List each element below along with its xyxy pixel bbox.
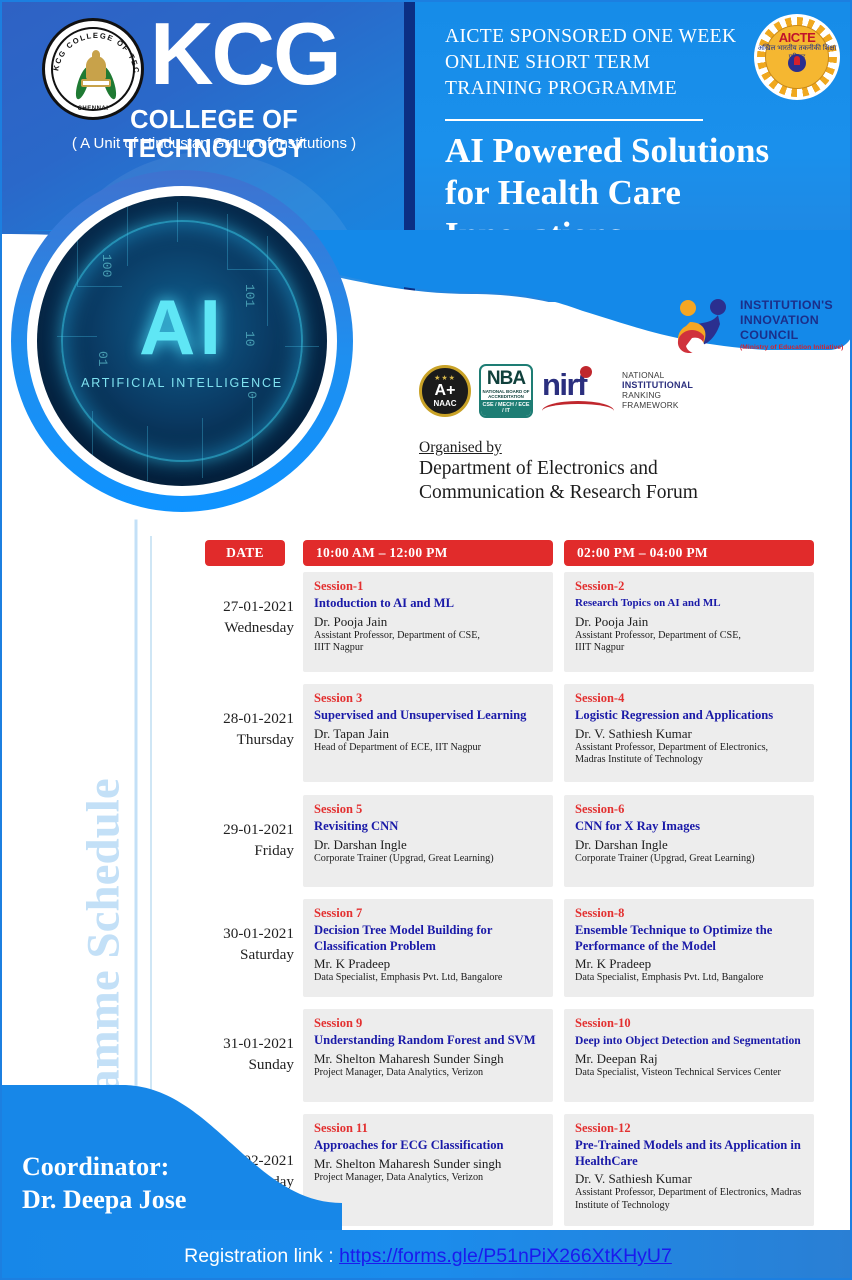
- session-title: Logistic Regression and Applications: [575, 708, 803, 724]
- session-affiliation-line-2: IIIT Nagpur: [314, 642, 542, 655]
- registration-line: Registration link : https://forms.gle/P5…: [2, 1245, 852, 1268]
- session-speaker: Mr. Deepan Raj: [575, 1051, 803, 1067]
- sponsor-line-2: ONLINE SHORT TERM: [445, 50, 745, 76]
- session-number: Session 5: [314, 802, 542, 817]
- nirf-line-3: RANKING: [622, 390, 693, 400]
- sponsor-line-1: AICTE SPONSORED ONE WEEK: [445, 24, 745, 50]
- iic-logo-block: INSTITUTION'S INNOVATION COUNCIL (Minist…: [674, 294, 849, 362]
- session-affiliation-line-1: Data Specialist, Visteon Technical Servi…: [575, 1067, 803, 1080]
- nba-badge-icon: NBA NATIONAL BOARD OF ACCREDITATION CSE …: [479, 364, 533, 418]
- session-title: CNN for X Ray Images: [575, 819, 803, 835]
- date-cell: 30-01-2021 Saturday: [162, 899, 294, 965]
- session-card-afternoon: Session-4 Logistic Regression and Applic…: [564, 684, 814, 782]
- organising-department: Department of Electronics and Communicat…: [419, 457, 839, 504]
- session-affiliation-line-1: Assistant Professor, Department of CSE,: [314, 630, 542, 643]
- aicte-logo-icon: AICTE अखिल भारतीय तकनीकी शिक्षा परिषद्: [754, 14, 840, 100]
- row-date: 29-01-2021: [162, 819, 294, 840]
- session-number: Session 3: [314, 691, 542, 706]
- poster-root: CHENNAI KCG COLLEGE OF TECHNOLOGY KCG CO…: [0, 0, 852, 1280]
- session-title: Revisiting CNN: [314, 819, 542, 835]
- title-line-1: AI Powered Solutions: [445, 130, 845, 172]
- ai-caption: ARTIFICIAL INTELLIGENCE: [37, 376, 327, 390]
- row-day: Sunday: [162, 1054, 294, 1075]
- row-day: Wednesday: [162, 617, 294, 638]
- row-day: Friday: [162, 840, 294, 861]
- row-date: 28-01-2021: [162, 708, 294, 729]
- organised-by-label: Organised by: [419, 439, 502, 457]
- nirf-badge-icon: nirf NATIONAL INSTITUTIONAL RANKING FRAM…: [542, 367, 672, 415]
- session-number: Session 7: [314, 906, 542, 921]
- session-title: Decision Tree Model Building for Classif…: [314, 923, 542, 954]
- session-speaker: Dr. V. Sathiesh Kumar: [575, 1171, 803, 1187]
- date-cell: 27-01-2021 Wednesday: [162, 572, 294, 638]
- nirf-line-1: NATIONAL: [622, 370, 693, 380]
- institute-acronym: KCG: [150, 10, 340, 98]
- session-speaker: Dr. Pooja Jain: [575, 614, 803, 630]
- session-speaker: Dr. V. Sathiesh Kumar: [575, 726, 803, 742]
- nirf-line-4: FRAMEWORK: [622, 400, 693, 410]
- session-number: Session-4: [575, 691, 803, 706]
- kcg-seal-logo-icon: CHENNAI KCG COLLEGE OF TECHNOLOGY: [42, 18, 144, 120]
- session-affiliation-line-2: IIIT Nagpur: [575, 642, 803, 655]
- session-affiliation-line-1: Assistant Professor, Department of Elect…: [575, 1187, 803, 1200]
- session-number: Session-8: [575, 906, 803, 921]
- nba-wordmark: NBA: [481, 368, 531, 390]
- session-speaker: Mr. K Pradeep: [314, 956, 542, 972]
- column-header-morning: 10:00 AM – 12:00 PM: [303, 540, 553, 566]
- svg-text:KCG COLLEGE OF TECHNOLOGY: KCG COLLEGE OF TECHNOLOGY: [45, 21, 141, 75]
- date-cell: 28-01-2021 Thursday: [162, 684, 294, 750]
- session-affiliation-line-1: Head of Department of ECE, IIT Nagpur: [314, 742, 542, 755]
- table-row: 29-01-2021 Friday Session 5 Revisiting C…: [162, 795, 842, 893]
- session-speaker: Mr. K Pradeep: [575, 956, 803, 972]
- date-cell: 29-01-2021 Friday: [162, 795, 294, 861]
- session-card-morning: Session 3 Supervised and Unsupervised Le…: [303, 684, 553, 782]
- date-cell: 31-01-2021 Sunday: [162, 1009, 294, 1075]
- iic-line-2: INNOVATION: [740, 313, 833, 328]
- naac-badge-icon: ★★★ A+ NAAC: [419, 365, 471, 417]
- coordinator-block: Coordinator: Dr. Deepa Jose: [22, 1150, 186, 1216]
- naac-label: NAAC: [433, 399, 456, 408]
- dept-line-1: Department of Electronics and: [419, 457, 839, 481]
- session-affiliation-line-1: Assistant Professor, Department of Elect…: [575, 742, 803, 755]
- session-title: Intoduction to AI and ML: [314, 596, 542, 612]
- table-row: 27-01-2021 Wednesday Session-1 Intoducti…: [162, 572, 842, 678]
- table-row: 28-01-2021 Thursday Session 3 Supervised…: [162, 684, 842, 789]
- schedule-header-row: DATE 10:00 AM – 12:00 PM 02:00 PM – 04:0…: [162, 540, 842, 566]
- session-title: Pre-Trained Models and its Application i…: [575, 1138, 803, 1169]
- row-day: Thursday: [162, 729, 294, 750]
- session-speaker: Dr. Darshan Ingle: [314, 837, 542, 853]
- aicte-wordmark: AICTE: [754, 30, 840, 45]
- session-number: Session 9: [314, 1016, 542, 1031]
- nirf-line-2: INSTITUTIONAL: [622, 380, 693, 390]
- session-affiliation-line-1: Assistant Professor, Department of CSE,: [575, 630, 803, 643]
- binary-decoration-1: 100: [99, 254, 114, 277]
- session-number: Session-1: [314, 579, 542, 594]
- session-affiliation-line-1: Data Specialist, Emphasis Pvt. Ltd, Bang…: [314, 972, 542, 985]
- session-speaker: Dr. Pooja Jain: [314, 614, 542, 630]
- session-speaker: Dr. Tapan Jain: [314, 726, 542, 742]
- table-row: 30-01-2021 Saturday Session 7 Decision T…: [162, 899, 842, 1003]
- title-line-2: for Health Care: [445, 172, 845, 214]
- binary-decoration-5: 0: [244, 391, 259, 399]
- iic-ministry-note: (Ministry of Education Initiative): [740, 344, 843, 351]
- registration-label: Registration link :: [184, 1245, 339, 1267]
- session-title: Research Topics on AI and ML: [575, 596, 803, 612]
- ai-graphic-image: 100 01 101 10 0 AI ARTIFICIAL INTELLIGEN…: [37, 196, 327, 486]
- column-header-date: DATE: [205, 540, 285, 566]
- session-number: Session-6: [575, 802, 803, 817]
- iic-mark-icon: [674, 296, 736, 358]
- nirf-full-name: NATIONAL INSTITUTIONAL RANKING FRAMEWORK: [622, 370, 693, 410]
- session-affiliation-line-1: Corporate Trainer (Upgrad, Great Learnin…: [314, 853, 542, 866]
- coordinator-name: Dr. Deepa Jose: [22, 1183, 186, 1216]
- session-number: Session-12: [575, 1121, 803, 1136]
- session-affiliation-line-2: Madras Institute of Technology: [575, 754, 803, 767]
- header-rule-divider: [445, 119, 703, 121]
- coordinator-label: Coordinator:: [22, 1150, 186, 1183]
- session-card-afternoon: Session-6 CNN for X Ray Images Dr. Darsh…: [564, 795, 814, 887]
- session-card-afternoon: Session-2 Research Topics on AI and ML D…: [564, 572, 814, 672]
- nba-subtitle: NATIONAL BOARD OF ACCREDITATION: [481, 389, 531, 399]
- session-number: Session-10: [575, 1016, 803, 1031]
- registration-link[interactable]: https://forms.gle/P51nPiX266XtKHyU7: [339, 1245, 672, 1267]
- session-title: Supervised and Unsupervised Learning: [314, 708, 542, 724]
- session-card-afternoon: Session-10 Deep into Object Detection an…: [564, 1009, 814, 1102]
- sponsor-text: AICTE SPONSORED ONE WEEK ONLINE SHORT TE…: [445, 24, 745, 102]
- row-day: Saturday: [162, 944, 294, 965]
- session-card-afternoon: Session-8 Ensemble Technique to Optimize…: [564, 899, 814, 997]
- nba-programs: CSE / MECH / ECE / IT: [481, 400, 531, 416]
- session-number: Session 11: [314, 1121, 542, 1136]
- iic-text: INSTITUTION'S INNOVATION COUNCIL: [740, 298, 833, 343]
- session-affiliation-line-1: Project Manager, Data Analytics, Verizon: [314, 1172, 542, 1185]
- iic-line-1: INSTITUTION'S: [740, 298, 833, 313]
- row-date: 27-01-2021: [162, 596, 294, 617]
- sponsor-line-3: TRAINING PROGRAMME: [445, 76, 745, 102]
- session-speaker: Mr. Shelton Maharesh Sunder Singh: [314, 1051, 542, 1067]
- session-card-morning: Session-1 Intoduction to AI and ML Dr. P…: [303, 572, 553, 672]
- row-date: 30-01-2021: [162, 923, 294, 944]
- naac-stars: ★★★: [434, 374, 456, 382]
- session-affiliation-line-2: Institute of Technology: [575, 1200, 803, 1213]
- session-number: Session-2: [575, 579, 803, 594]
- naac-grade: A+: [435, 382, 456, 399]
- session-card-morning: Session 5 Revisiting CNN Dr. Darshan Ing…: [303, 795, 553, 887]
- ai-letters: AI: [37, 288, 327, 366]
- session-card-afternoon: Session-12 Pre-Trained Models and its Ap…: [564, 1114, 814, 1226]
- session-speaker: Dr. Darshan Ingle: [575, 837, 803, 853]
- session-card-morning: Session 7 Decision Tree Model Building f…: [303, 899, 553, 997]
- session-affiliation-line-1: Project Manager, Data Analytics, Verizon: [314, 1067, 542, 1080]
- dept-line-2: Communication & Research Forum: [419, 481, 839, 505]
- session-title: Approaches for ECG Classification: [314, 1138, 542, 1154]
- institute-unit-note: ( A Unit of Hindustan Group of Instituti…: [44, 135, 384, 152]
- aicte-lamp-icon: [788, 54, 806, 72]
- session-title: Understanding Random Forest and SVM: [314, 1033, 542, 1049]
- session-affiliation-line-1: Data Specialist, Emphasis Pvt. Ltd, Bang…: [575, 972, 803, 985]
- session-speaker: Mr. Shelton Maharesh Sunder singh: [314, 1156, 542, 1172]
- session-title: Ensemble Technique to Optimize the Perfo…: [575, 923, 803, 954]
- session-title: Deep into Object Detection and Segmentat…: [575, 1033, 803, 1049]
- session-affiliation-line-1: Corporate Trainer (Upgrad, Great Learnin…: [575, 853, 803, 866]
- column-header-afternoon: 02:00 PM – 04:00 PM: [564, 540, 814, 566]
- iic-line-3: COUNCIL: [740, 328, 833, 343]
- row-date: 31-01-2021: [162, 1033, 294, 1054]
